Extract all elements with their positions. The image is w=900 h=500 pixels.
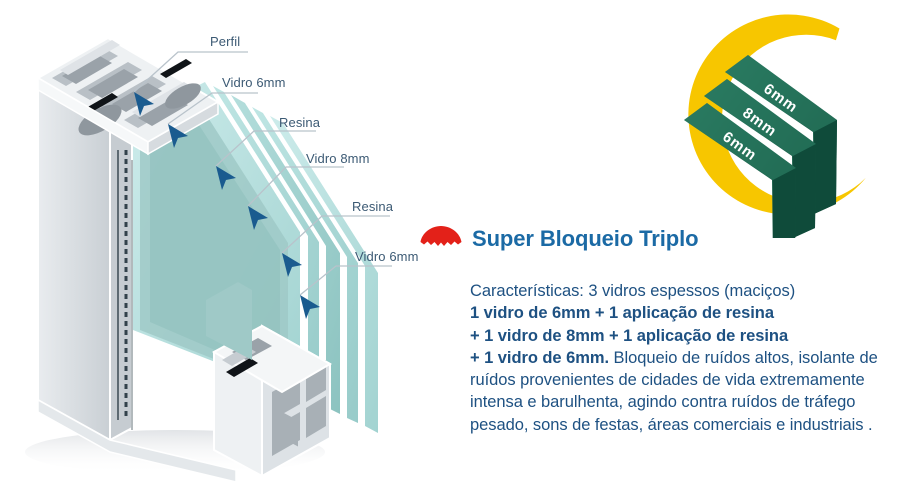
red-fan-icon: [420, 225, 462, 253]
callout-label-vidro-6mm-bottom: Vidro 6mm: [355, 250, 419, 263]
callout-label-vidro-6mm-top: Vidro 6mm: [222, 76, 286, 89]
callout-label-perfil: Perfil: [210, 35, 240, 48]
callout-label-resina-2: Resina: [352, 200, 393, 213]
description-bold-line-2: + 1 vidro de 8mm + 1 aplicação de resina: [470, 327, 788, 345]
product-description: Características: 3 vidros espessos (maci…: [470, 280, 900, 436]
product-title: Super Bloqueio Triplo: [472, 226, 698, 252]
description-bold-line-3: + 1 vidro de 6mm.: [470, 349, 609, 367]
product-headline: Super Bloqueio Triplo: [420, 222, 698, 256]
triple-glass-emblem: 6mm 8mm 6mm: [670, 8, 900, 238]
profile-left-face-inner: [110, 106, 132, 440]
poster-canvas: Perfil Vidro 6mm Resina Vidro 8mm Resina…: [0, 0, 900, 500]
description-bold-line-1: 1 vidro de 6mm + 1 aplicação de resina: [470, 304, 774, 322]
product-info-panel: 6mm 8mm 6mm: [420, 0, 900, 500]
gasket-notch-2: [160, 59, 192, 78]
callout-label-vidro-8mm: Vidro 8mm: [306, 152, 370, 165]
callout-label-resina-1: Resina: [279, 116, 320, 129]
description-lead: Características: 3 vidros espessos (maci…: [470, 282, 795, 300]
